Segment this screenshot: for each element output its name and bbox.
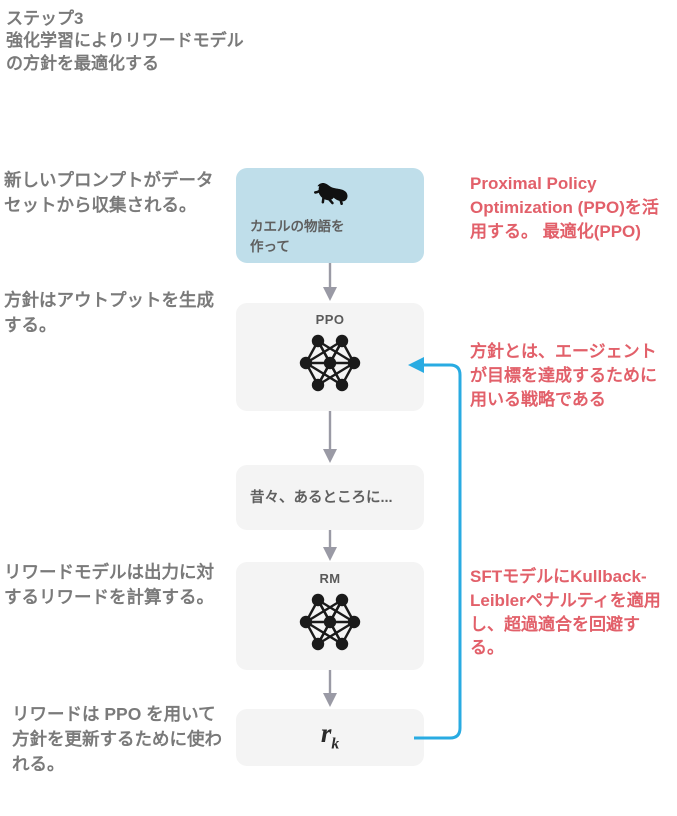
connector-output-to-rm bbox=[236, 530, 424, 562]
red-note-ppo-activation: Proximal Policy Optimization (PPO)を活用する。… bbox=[470, 172, 672, 243]
left-note-policy-output: 方針はアウトプットを生成する。 bbox=[4, 288, 219, 338]
prompt-box-text: カエルの物語を 作って bbox=[250, 217, 410, 256]
page-title-line-3: の方針を最適化する bbox=[6, 53, 426, 75]
left-note-reward-model-calc: リワードモデルは出力に対するリワードを計算する。 bbox=[4, 560, 219, 610]
neural-network-icon bbox=[236, 588, 424, 661]
page-title-line-1: ステップ3 bbox=[6, 8, 426, 30]
connector-ppo-to-output bbox=[236, 411, 424, 465]
rm-box-label: RM bbox=[236, 562, 424, 586]
prompt-box: カエルの物語を 作って bbox=[236, 168, 424, 263]
ppo-model-box: PPO bbox=[236, 303, 424, 411]
page-title: ステップ3 強化学習によりリワードモデル の方針を最適化する bbox=[6, 8, 426, 75]
frog-icon bbox=[250, 180, 410, 214]
ppo-box-label: PPO bbox=[236, 303, 424, 327]
left-note-prompt-sampled: 新しいプロンプトがデータセットから収集される。 bbox=[4, 168, 219, 218]
left-note-reward-updates-policy: リワードは PPO を用いて方針を更新するために使われる。 bbox=[12, 702, 227, 777]
prompt-box-text-line-1: カエルの物語を bbox=[250, 217, 410, 237]
prompt-box-text-line-2: 作って bbox=[250, 237, 410, 257]
reward-symbol: r bbox=[321, 718, 332, 748]
reward-value-box: rk bbox=[236, 709, 424, 766]
red-note-policy-definition: 方針とは、エージェントが目標を達成するために用いる戦略である bbox=[470, 340, 672, 411]
output-text-box: 昔々、あるところに... bbox=[236, 465, 424, 530]
reward-subscript: k bbox=[331, 735, 339, 752]
red-note-kl-penalty: SFTモデルにKullback-Leiblerペナルティを適用し、超過適合を回避… bbox=[470, 565, 672, 660]
connector-prompt-to-ppo bbox=[236, 263, 424, 303]
reward-model-box: RM bbox=[236, 562, 424, 670]
neural-network-icon bbox=[236, 329, 424, 402]
page-title-line-2: 強化学習によりリワードモデル bbox=[6, 30, 426, 52]
output-text: 昔々、あるところに... bbox=[236, 465, 424, 507]
connector-rm-to-reward bbox=[236, 670, 424, 709]
reward-formula: rk bbox=[236, 709, 424, 753]
